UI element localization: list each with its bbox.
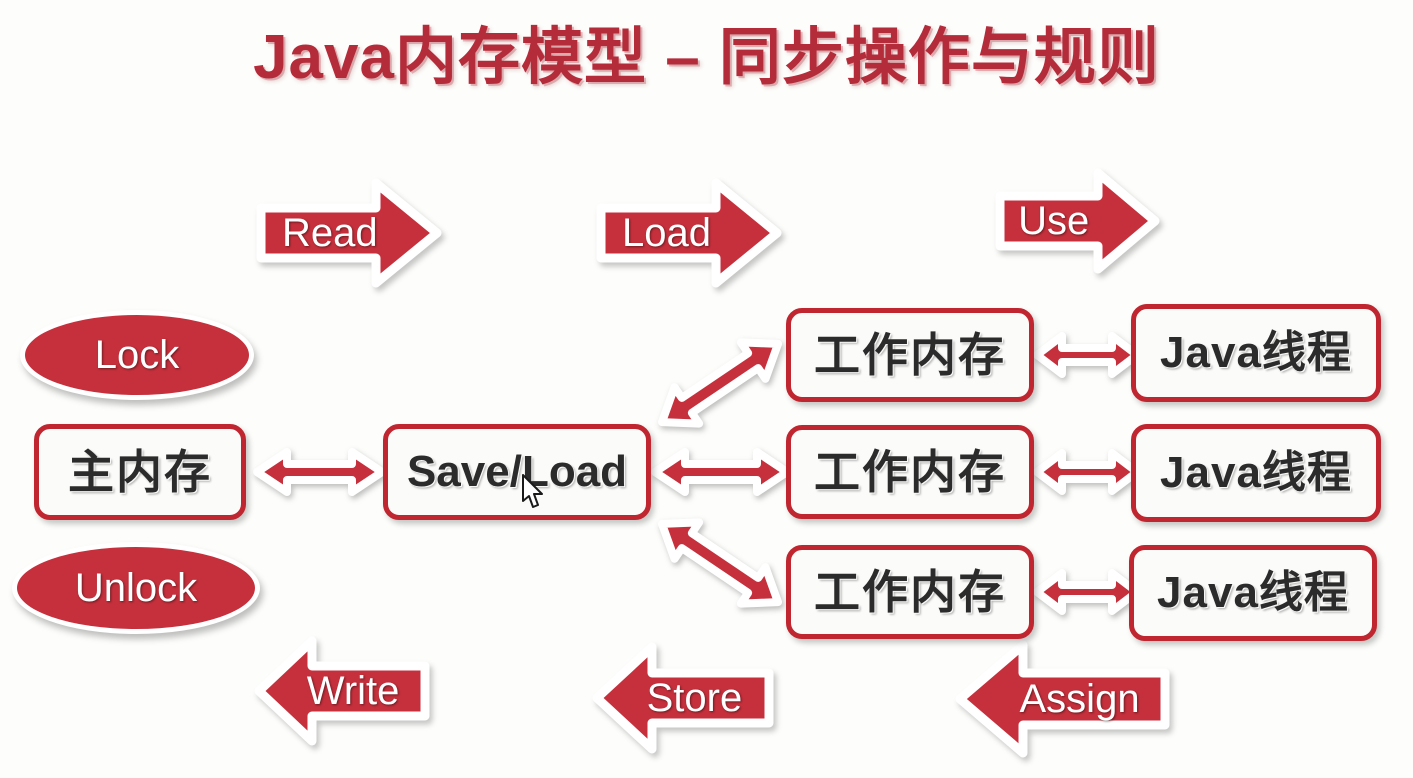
operation-arrow-use-label: Use <box>1018 199 1089 244</box>
node-working-memory-2-label: 工作内存 <box>814 449 1006 495</box>
connector-working-to-thread-2 <box>1032 448 1142 496</box>
double-arrow-horizontal <box>1032 448 1142 496</box>
operation-arrow-use: Use <box>995 168 1160 274</box>
double-arrow-diagonal-up <box>640 328 800 438</box>
connector-saveload-to-working-2 <box>650 446 792 498</box>
connector-main-to-saveload <box>252 446 387 498</box>
lock-label: Lock <box>95 333 180 378</box>
node-main-memory-label: 主内存 <box>68 449 212 495</box>
unlock-label: Unlock <box>75 566 197 611</box>
node-working-memory-2: 工作内存 <box>786 425 1034 519</box>
node-save-load-label: Save/Load <box>407 450 627 494</box>
operation-arrow-read: Read <box>256 178 442 288</box>
connector-working-to-thread-3 <box>1032 568 1142 616</box>
connector-saveload-to-working-1 <box>640 328 800 438</box>
operation-arrow-load-label: Load <box>622 211 711 256</box>
node-java-thread-2: Java线程 <box>1131 424 1381 522</box>
operation-arrow-store: Store <box>592 642 774 754</box>
connector-working-to-thread-1 <box>1032 331 1142 379</box>
node-working-memory-1: 工作内存 <box>786 308 1034 402</box>
operation-arrow-assign: Assign <box>955 640 1170 758</box>
operation-arrow-assign-label: Assign <box>1020 677 1140 722</box>
lock-ellipse: Lock <box>20 310 254 400</box>
double-arrow-horizontal <box>650 446 792 498</box>
operation-arrow-read-label: Read <box>282 211 378 256</box>
double-arrow-horizontal <box>252 446 387 498</box>
node-working-memory-3: 工作内存 <box>786 545 1034 639</box>
operation-arrow-write-label: Write <box>307 669 400 714</box>
node-main-memory: 主内存 <box>34 424 246 520</box>
node-java-thread-1-label: Java线程 <box>1160 331 1352 375</box>
double-arrow-horizontal <box>1032 568 1142 616</box>
node-java-thread-3-label: Java线程 <box>1157 571 1349 615</box>
node-java-thread-2-label: Java线程 <box>1160 451 1352 495</box>
page-title: Java内存模型 – 同步操作与规则 <box>0 6 1413 96</box>
connector-saveload-to-working-3 <box>640 508 800 618</box>
node-java-thread-3: Java线程 <box>1129 545 1377 641</box>
operation-arrow-store-label: Store <box>647 676 743 721</box>
node-working-memory-1-label: 工作内存 <box>814 332 1006 378</box>
unlock-ellipse: Unlock <box>12 542 260 634</box>
double-arrow-horizontal <box>1032 331 1142 379</box>
double-arrow-diagonal-down <box>640 508 800 618</box>
node-save-load: Save/Load <box>383 424 651 520</box>
operation-arrow-write: Write <box>254 636 430 746</box>
node-java-thread-1: Java线程 <box>1131 304 1381 402</box>
node-working-memory-3-label: 工作内存 <box>814 569 1006 615</box>
operation-arrow-load: Load <box>596 178 782 288</box>
